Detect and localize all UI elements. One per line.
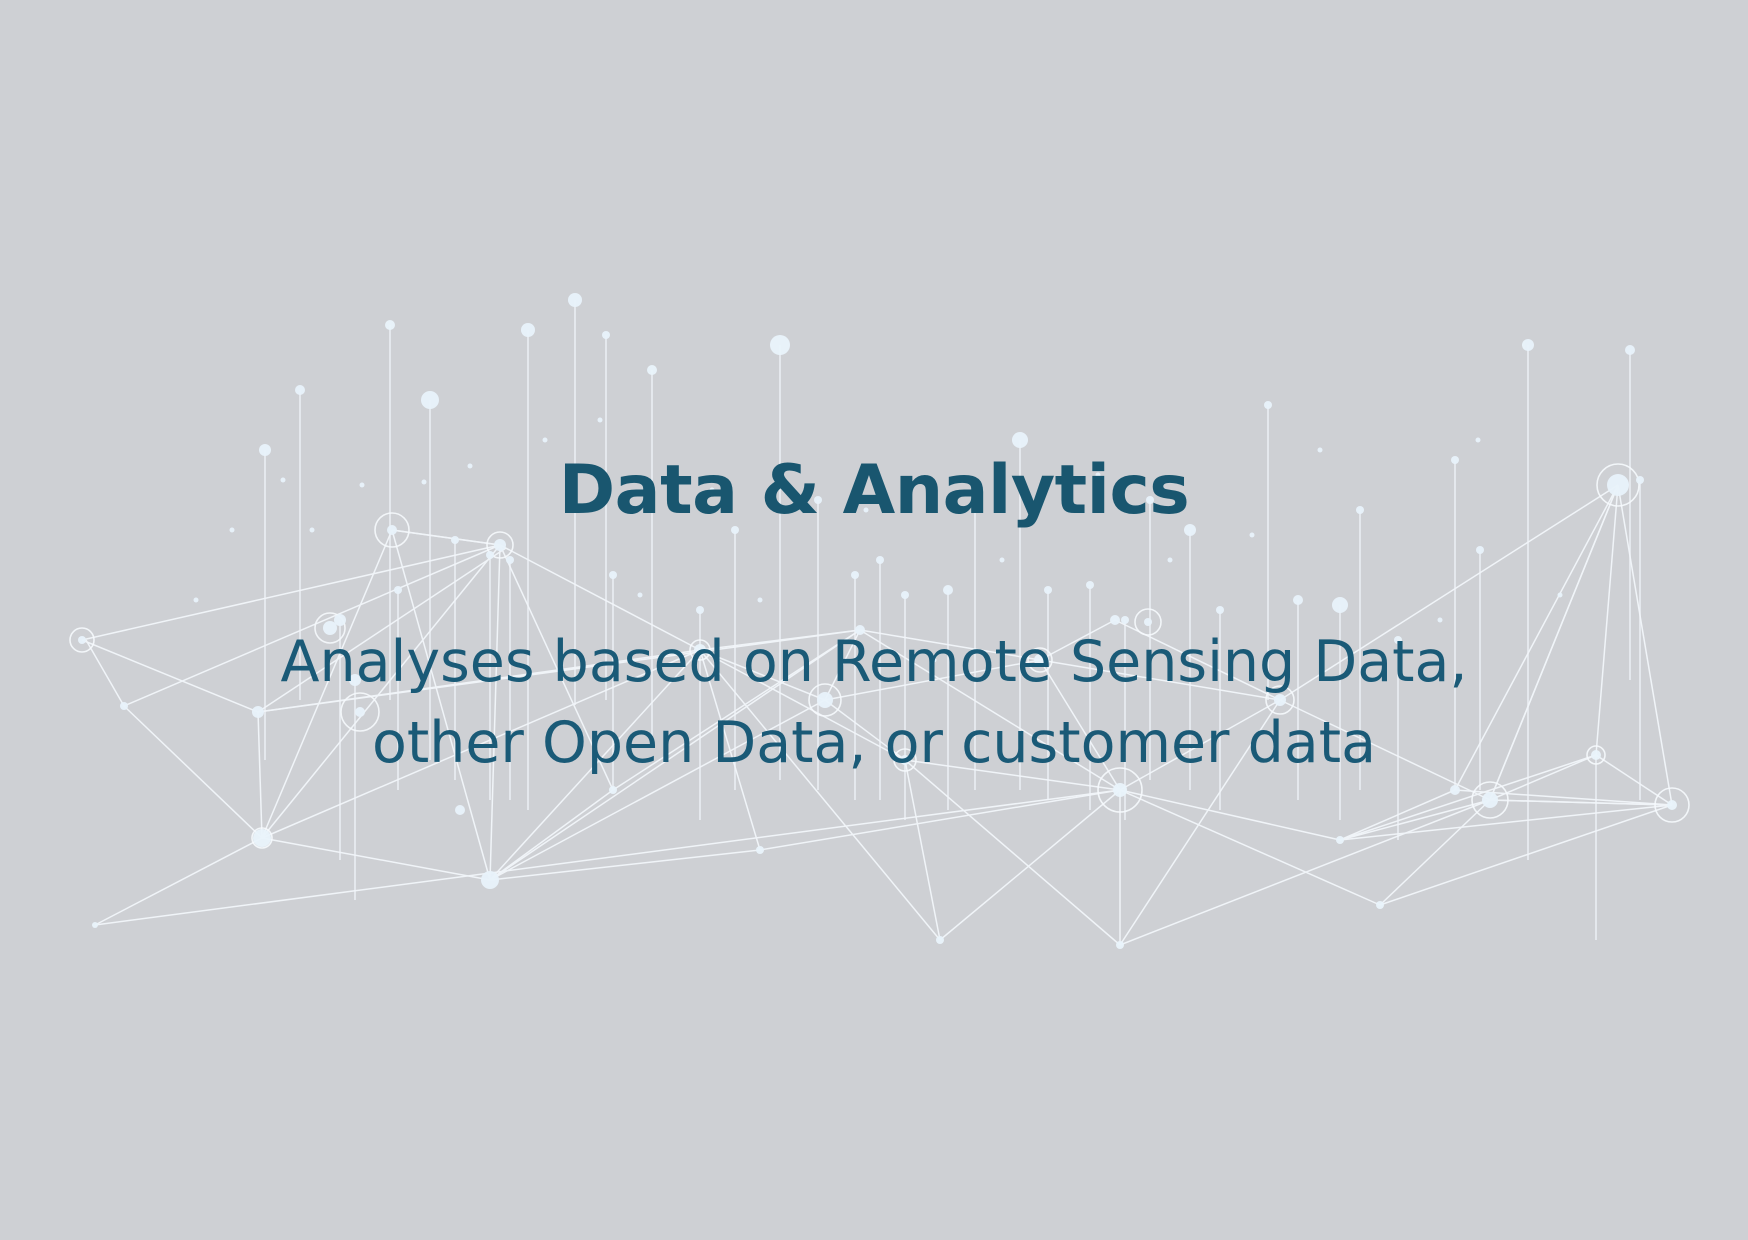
page-subtitle: Analyses based on Remote Sensing Data, o…: [0, 622, 1748, 784]
page-title: Data & Analytics: [0, 455, 1748, 526]
subtitle-line-2: other Open Data, or customer data: [0, 703, 1748, 784]
hero-banner: Data & Analytics Analyses based on Remot…: [0, 0, 1748, 1240]
hero-text-stack: Data & Analytics Analyses based on Remot…: [0, 0, 1748, 1240]
subtitle-line-1: Analyses based on Remote Sensing Data,: [0, 622, 1748, 703]
